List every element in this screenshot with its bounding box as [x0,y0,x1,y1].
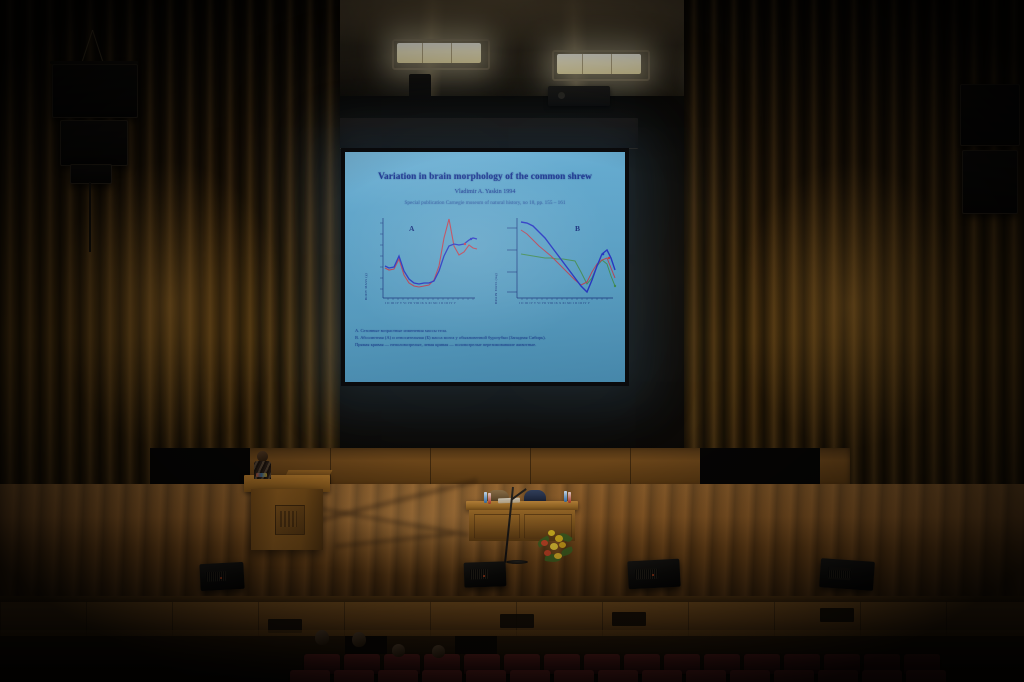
table-front-panel [474,514,520,539]
audience-seating [0,636,1024,682]
bouquet-flower [544,550,551,556]
speaker-cabinet-upper [52,64,138,118]
hanging-speaker-left [30,30,160,250]
audience-seat [862,670,902,682]
ceiling-projector [548,86,610,106]
water-bottle [488,493,491,504]
monitor-power-led [652,574,654,576]
panel-a-xticks: I II III IV V VI VII VIII IX X XI XII I … [385,302,456,305]
audience-head [392,644,405,657]
audience-head [432,645,445,658]
bouquet-flower [554,553,562,559]
caption-line-3: Прямая кривая — неполовозрелые, левая кр… [355,342,615,349]
panel-table-top [466,501,578,510]
projector-lens-icon [558,92,565,99]
apron-vent [500,614,534,628]
caption-line-1: А. Сезонные возрастные изменения массы т… [355,328,615,335]
audience-seat [598,670,638,682]
speaker-cabinet-upper [960,84,1020,146]
chart-panel-b: B BRAIN MASS (mg) [491,214,617,316]
presenter-clothing-accent [256,473,267,477]
chart-panel-a: A BODY MASS (g) [361,214,479,316]
audience-seat [906,670,946,682]
stage-monitor-right [819,558,875,591]
audience-seat [510,670,550,682]
bouquet-flower [555,535,563,542]
water-bottle [484,492,487,503]
projection-screen[interactable]: Variation in brain morphology of the com… [345,152,625,382]
caption-line-2: B. Абсолютная (А) и относительная (Б) ма… [355,335,615,342]
rigging-wire [92,30,103,63]
slide-caption: А. Сезонные возрастные изменения массы т… [355,328,615,349]
apron-vent [612,612,646,626]
proscenium-header [338,118,638,149]
black-drape-right [700,448,820,484]
audience-seat [334,670,374,682]
audience-seat [642,670,682,682]
audience-seat [554,670,594,682]
stage-monitor-center-left [464,561,507,587]
panel-a-plot [361,214,479,316]
monitor-grille [206,570,226,582]
audience-head [315,630,329,645]
audience-seat [774,670,814,682]
monitor-power-led [483,575,485,577]
audience-seat [290,670,330,682]
water-bottle [564,491,567,502]
panel-b-plot [491,214,617,316]
light-mullion [451,43,452,63]
lecture-hall-scene: Variation in brain morphology of the com… [0,0,1024,682]
slide-title: Variation in brain morphology of the com… [353,172,617,182]
audience-seat [422,670,462,682]
bouquet-flower [550,543,558,550]
bouquet-flower [548,530,555,536]
bouquet-flower [559,542,566,548]
speaker-cabinet-lower [60,120,128,166]
audience-seat [378,670,418,682]
audience-seat [730,670,770,682]
bouquet-flower [541,540,548,546]
panel-b-xticks: I II III IV V VI VII VIII IX X XI XII I … [519,302,590,305]
audience-seat [466,670,506,682]
monitor-power-led [220,577,222,579]
water-bottle [568,492,571,503]
monitor-grille [635,568,658,580]
wall-panel [455,636,497,654]
stage-monitor-center-right [627,559,680,590]
speaker-support-pole [89,182,91,252]
light-mullion [582,54,583,74]
ceiling-fixture-box [409,74,431,100]
flower-bouquet [535,528,573,564]
audience-seat [818,670,858,682]
ceiling-light-3 [557,54,641,74]
stage-monitor-left [199,562,244,591]
speaker-cabinet-lower [962,150,1018,214]
monitor-grille [470,569,489,580]
table-papers [498,498,520,504]
slide-author: Vladimir A. Yaskin 1994 [353,189,617,195]
presenter-at-podium [254,451,271,479]
monitor-grille [827,567,852,580]
light-mullion [422,43,423,63]
hanging-speaker-right [960,84,1024,284]
apron-vent [820,608,854,622]
audience-seat [686,670,726,682]
audience-head [352,632,366,647]
light-mullion [611,54,612,74]
microphone-base [506,560,528,564]
rigging-wire [82,30,93,63]
speaker-cabinet-bottom [70,164,112,184]
podium-panel-detail [280,511,297,527]
slide-reference: Special publication Carnegie museum of n… [353,200,617,206]
ceiling-light-2 [397,43,481,63]
